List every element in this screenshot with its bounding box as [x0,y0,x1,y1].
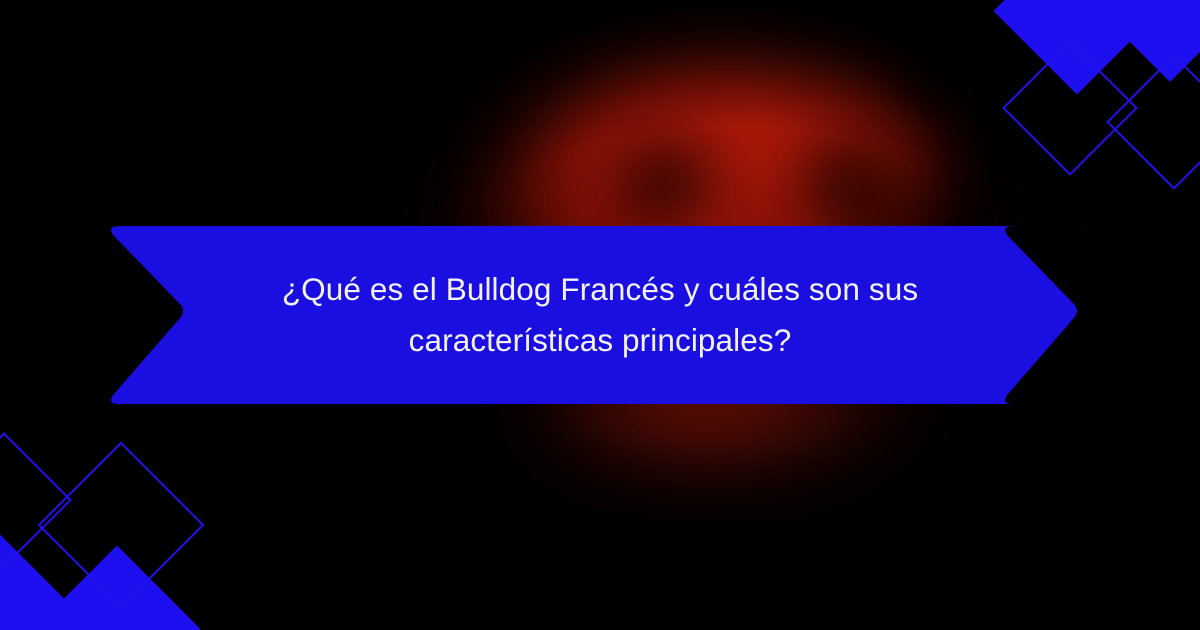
banner-title-line-1: ¿Qué es el Bulldog Francés y cuáles son … [282,264,918,315]
photo-blob-ear-notch [900,48,970,108]
og-image-canvas: ¿Qué es el Bulldog Francés y cuáles son … [0,0,1200,630]
banner-title-line-2: características principales? [409,315,792,366]
banner-title: ¿Qué es el Bulldog Francés y cuáles son … [106,226,1094,404]
ribbon-banner: ¿Qué es el Bulldog Francés y cuáles son … [106,226,1094,404]
